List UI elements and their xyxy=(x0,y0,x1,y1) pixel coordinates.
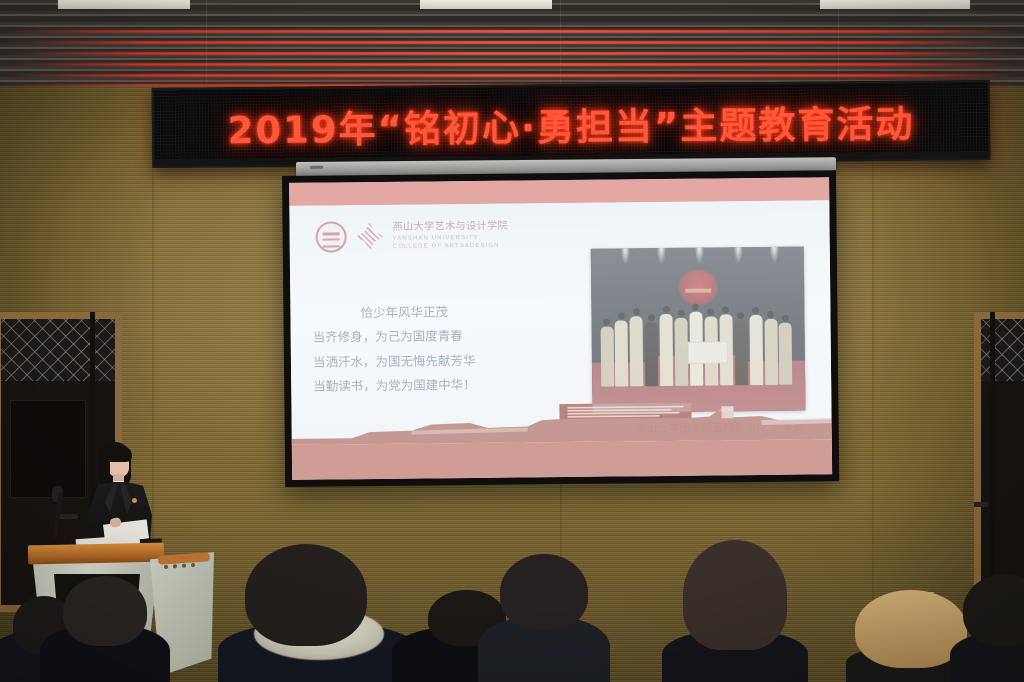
poem-line-1: 恰少年风华正茂 xyxy=(312,299,527,326)
logo-english-line2: COLLEGE OF ARTS&DESIGN xyxy=(393,241,509,250)
slide-poem: 恰少年风华正茂 当齐修身，为己为国度青春 当洒汗水，为国无悔先献芳华 当勤读书，… xyxy=(312,299,528,399)
speaker-lapel-pin xyxy=(132,498,137,503)
door-center-stile xyxy=(990,312,995,612)
door-transom-lattice xyxy=(1,319,115,381)
ceiling-panel-seam xyxy=(206,0,207,92)
ceiling-slat-panels xyxy=(0,0,1024,92)
audience-head xyxy=(245,544,367,646)
led-reflection-glow xyxy=(0,41,1024,44)
ceiling-light-strip xyxy=(420,0,552,9)
podium-button[interactable] xyxy=(191,563,195,567)
speaker-hair-side xyxy=(100,456,110,486)
door-transom-lattice xyxy=(981,319,1024,381)
led-reflection-glow xyxy=(0,30,1024,33)
ceiling-light-strip xyxy=(820,0,970,9)
diamond-star-mark-icon xyxy=(355,222,383,250)
led-reflection-glow xyxy=(0,74,1024,77)
podium-button[interactable] xyxy=(173,564,177,568)
ceiling-panel-seam xyxy=(560,0,561,92)
ceiling-light-strip xyxy=(58,0,190,9)
logo-chinese-name: 燕山大学艺术与设计学院 xyxy=(392,221,508,235)
door-handle[interactable] xyxy=(974,502,988,507)
slide-bottom-band xyxy=(292,439,832,480)
led-reflection-glow xyxy=(0,63,1024,66)
projector-washout-haze xyxy=(591,247,806,413)
podium-button[interactable] xyxy=(182,564,186,568)
auditorium-door-right[interactable] xyxy=(974,312,1024,612)
podium-button[interactable] xyxy=(164,565,168,569)
led-banner: 2019年“铭初心·勇担当”主题教育活动 xyxy=(152,80,991,168)
logo-wordmark: 燕山大学艺术与设计学院 YANSHAN UNIVERSITY COLLEGE O… xyxy=(392,221,508,251)
roller-mount-clip xyxy=(310,166,323,169)
audience-head xyxy=(963,574,1024,646)
audience-head xyxy=(683,540,787,650)
audience-head xyxy=(500,554,588,630)
poem-line-3: 当洒汗水，为国无悔先献芳华 xyxy=(313,348,528,375)
audience-member-6 xyxy=(662,540,808,682)
led-reflection-glow xyxy=(0,52,1024,55)
slide-content-area: 燕山大学艺术与设计学院 YANSHAN UNIVERSITY COLLEGE O… xyxy=(289,200,831,445)
group-award-photo xyxy=(591,247,806,413)
poem-line-4: 当勤读书，为党为国建中华！ xyxy=(313,373,528,400)
university-seal-icon xyxy=(315,221,346,252)
lecture-hall-scene: 2019年“铭初心·勇担当”主题教育活动 燕山大学艺术与设计学院 YANSHAN… xyxy=(0,0,1024,682)
presentation-slide: 燕山大学艺术与设计学院 YANSHAN UNIVERSITY COLLEGE O… xyxy=(289,177,832,480)
podium-top-trim xyxy=(28,543,164,565)
door-panel xyxy=(10,400,86,498)
audience-member-2 xyxy=(40,576,170,682)
audience-head xyxy=(63,576,147,646)
projection-screen: 燕山大学艺术与设计学院 YANSHAN UNIVERSITY COLLEGE O… xyxy=(282,170,839,487)
audience-member-5 xyxy=(478,554,610,682)
ceiling-panel-seam xyxy=(838,0,839,92)
poem-line-2: 当齐修身，为己为国度青春 xyxy=(313,324,528,351)
institution-logo-lockup: 燕山大学艺术与设计学院 YANSHAN UNIVERSITY COLLEGE O… xyxy=(315,220,508,253)
led-banner-text: 2019年“铭初心·勇担当”主题教育活动 xyxy=(154,93,988,155)
audience-member-3 xyxy=(218,544,418,682)
audience-member-8 xyxy=(950,574,1024,682)
